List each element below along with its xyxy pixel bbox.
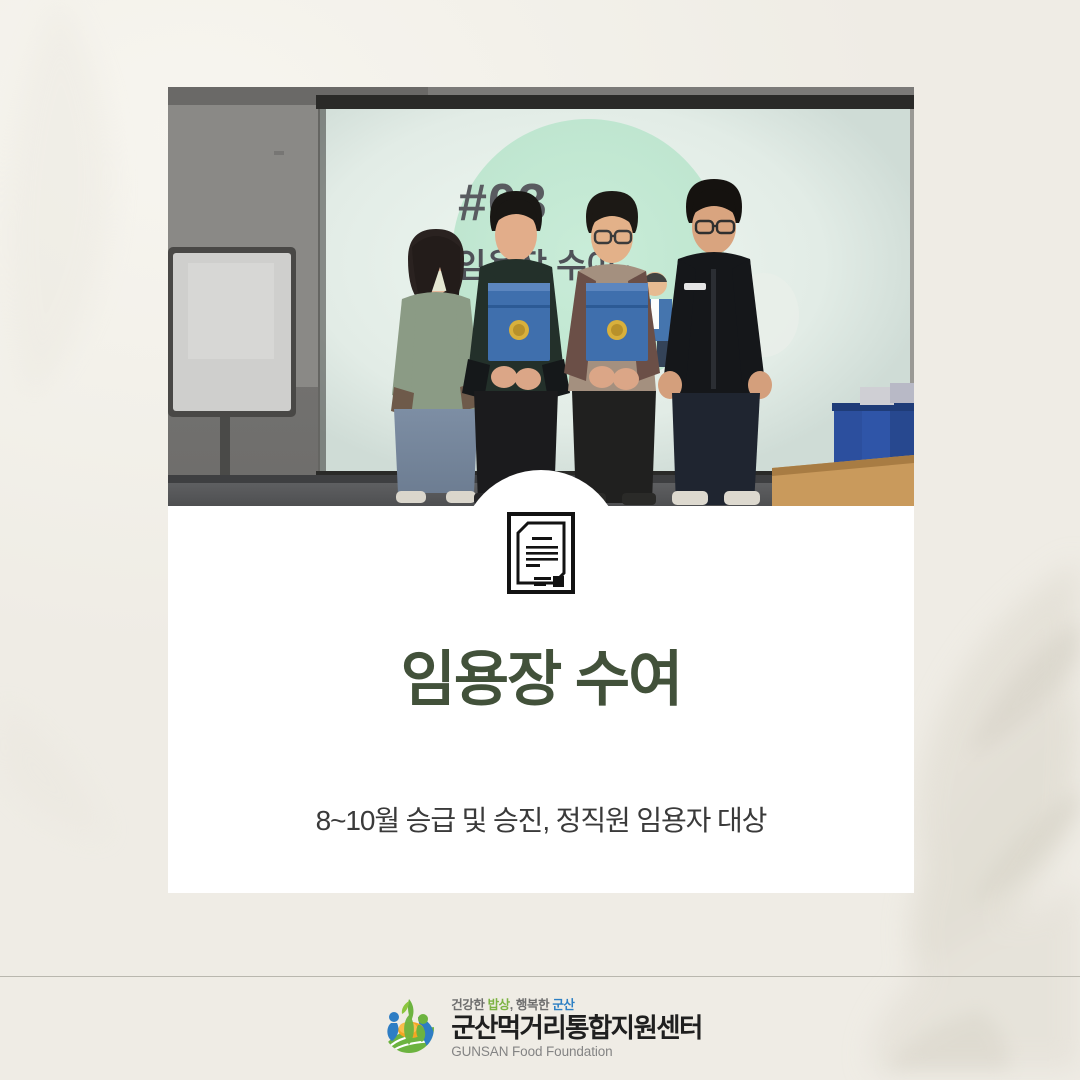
ceremony-photo: #03 임용장 수여 [168, 87, 914, 506]
page-subtitle: 8~10월 승급 및 승진, 정직원 임용자 대상 [168, 803, 914, 839]
logo-organization-name-english: GUNSAN Food Foundation [451, 1044, 702, 1059]
certificate-document-icon [506, 511, 576, 595]
content-card: #03 임용장 수여 [168, 87, 914, 893]
photo-illustration: #03 임용장 수여 [168, 87, 914, 506]
logo-organization-name: 군산먹거리통합지원센터 [451, 1014, 702, 1042]
logo-text-block: 건강한 밥상, 행복한 군산 군산먹거리통합지원센터 GUNSAN Food F… [451, 994, 702, 1059]
tagline-part-2: 밥상 [488, 998, 510, 1012]
tagline-part-4: 군산 [552, 998, 574, 1012]
gunsan-food-foundation-logo-mark-icon [378, 995, 440, 1057]
logo-tagline: 건강한 밥상, 행복한 군산 [451, 994, 702, 1013]
page-title: 임용장 수여 [168, 647, 914, 713]
certificate-badge [460, 470, 622, 632]
footer: 건강한 밥상, 행복한 군산 군산먹거리통합지원센터 GUNSAN Food F… [0, 976, 1080, 1080]
organization-logo: 건강한 밥상, 행복한 군산 군산먹거리통합지원센터 GUNSAN Food F… [378, 994, 702, 1059]
tagline-part-3: , 행복한 [510, 998, 553, 1012]
tagline-part-1: 건강한 [451, 998, 487, 1012]
